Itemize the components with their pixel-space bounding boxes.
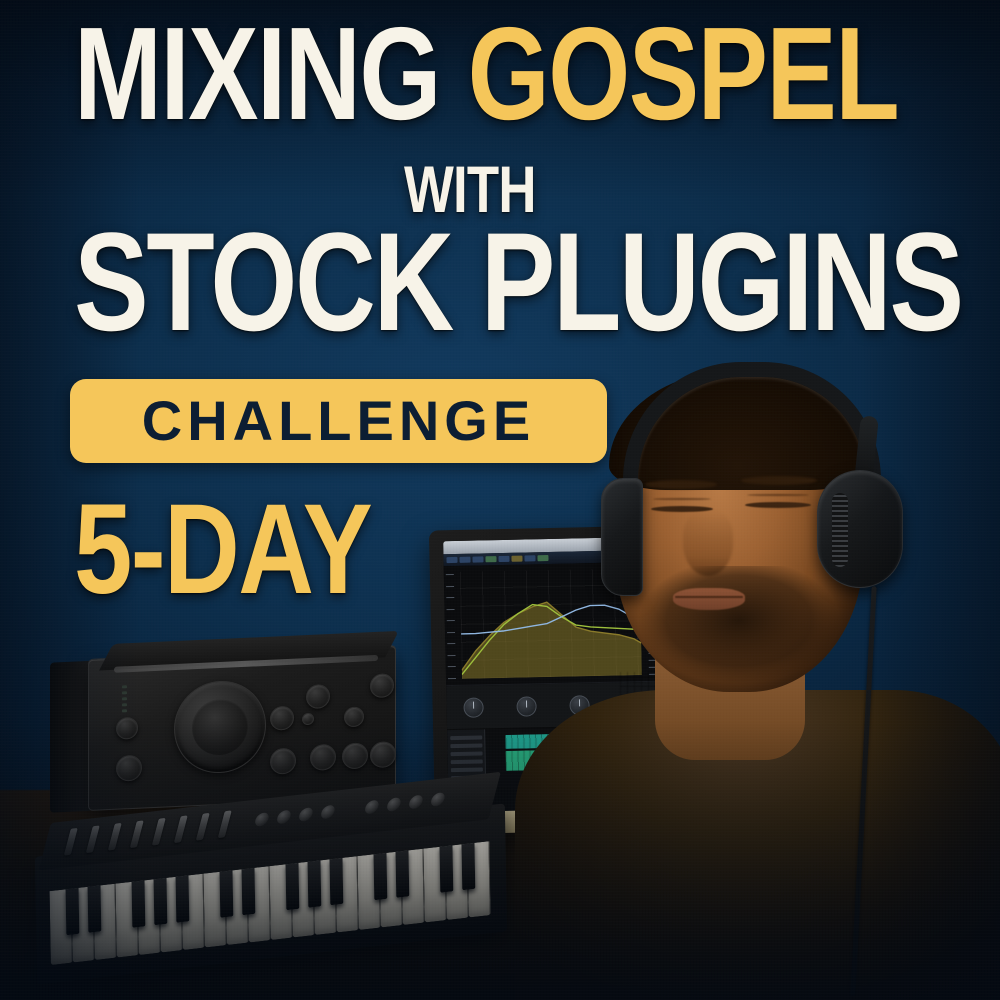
headline-line-stock-plugins: STOCK PLUGINS (74, 212, 962, 352)
challenge-badge-label: CHALLENGE (142, 393, 535, 449)
headline-word-gospel: GOSPEL (468, 0, 898, 147)
headline-word-mixing: MIXING (74, 0, 440, 147)
challenge-badge: CHALLENGE (70, 379, 607, 463)
headline-line-1: MIXING GOSPEL (74, 8, 898, 140)
poster-canvas: MIXING GOSPEL WITH STOCK PLUGINS CHALLEN… (0, 0, 1000, 1000)
headline-line-5-day: 5-DAY (74, 486, 371, 614)
